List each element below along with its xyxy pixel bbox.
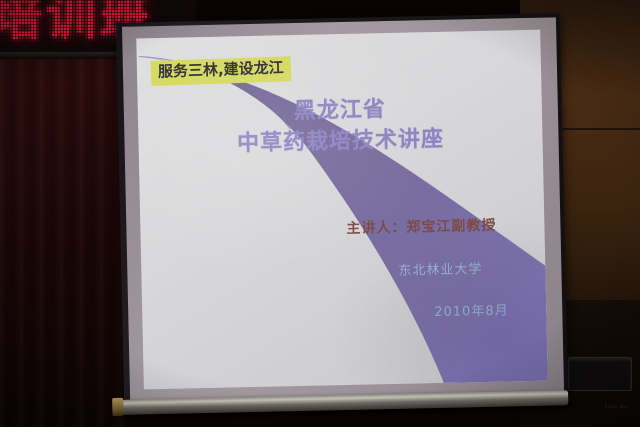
slide-organization-line: 东北林业大学 (398, 261, 482, 280)
photo-scene: Room Box 培训班 (0, 0, 640, 427)
presentation-slide: 服务三林,建设龙江 黑龙江省 中草药栽培技术讲座 主讲人：郑宝江副教授 东北林业… (136, 30, 548, 390)
stage-curtain-left (0, 0, 132, 427)
slide-date-line: 2010年8月 (434, 302, 509, 321)
equipment-label: Room Box (605, 404, 628, 409)
swoosh-corner-fill (441, 266, 547, 383)
wall-equipment-panel (568, 357, 632, 391)
screen-roller-end-cap (112, 398, 123, 416)
slide-yellow-banner: 服务三林,建设龙江 (151, 56, 291, 86)
projection-screen-assembly: 服务三林,建设龙江 黑龙江省 中草药栽培技术讲座 主讲人：郑宝江副教授 东北林业… (114, 7, 574, 409)
slide-speaker-line: 主讲人：郑宝江副教授 (346, 217, 496, 238)
slide-title-block: 黑龙江省 中草药栽培技术讲座 (138, 92, 543, 163)
